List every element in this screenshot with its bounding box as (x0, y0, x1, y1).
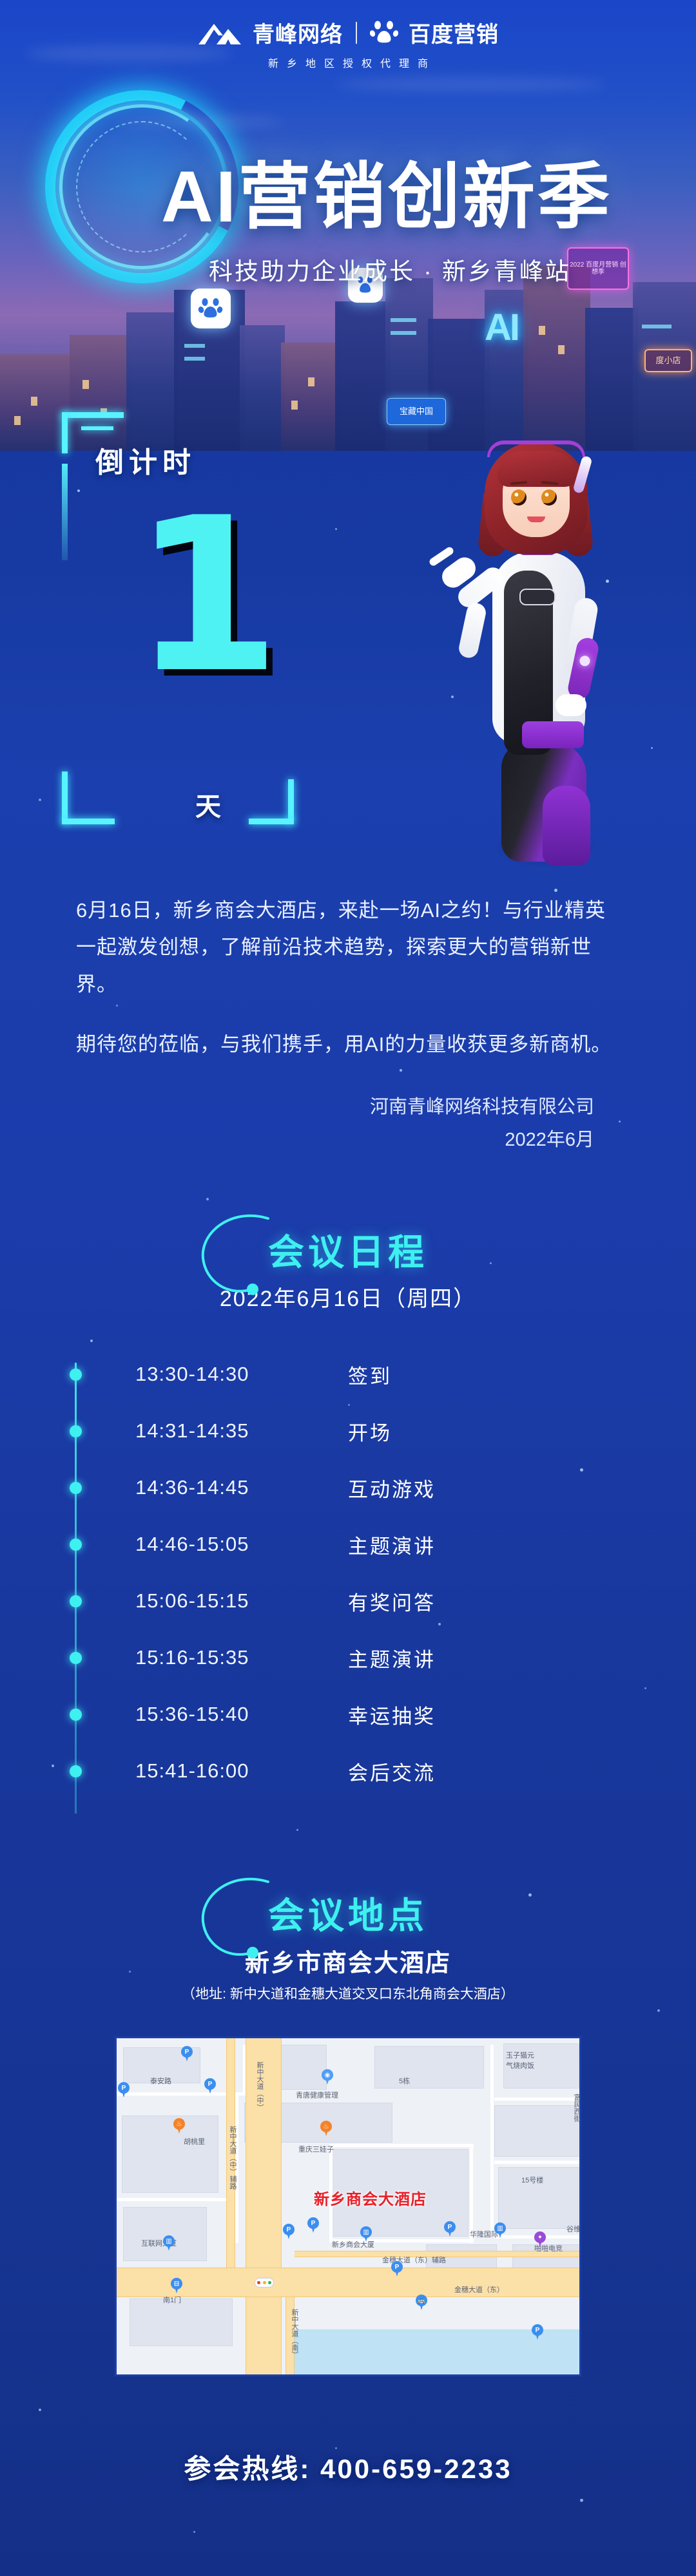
schedule-time: 15:16-15:35 (135, 1646, 249, 1669)
schedule-name: 主题演讲 (348, 1530, 436, 1559)
schedule-time: 15:06-15:15 (135, 1589, 249, 1613)
timeline-dot-icon (70, 1765, 82, 1777)
brand-qingfeng-label: 青峰网络 (253, 17, 343, 48)
page-header: 青峰网络 百度营销 新乡地区授权代理商 (0, 17, 696, 70)
map-pin-health-icon[interactable]: ◉ (322, 2069, 333, 2085)
authorized-agent-label: 新乡地区授权代理商 (0, 55, 696, 70)
timeline-dot-icon (70, 1595, 82, 1607)
schedule-row: 14:31-14:35 开场 (64, 1403, 516, 1459)
map-pin-parking-icon[interactable]: P (118, 2082, 130, 2098)
signature-company: 河南青峰网络科技有限公司 (76, 1091, 594, 1124)
baidu-paw-logo-icon (370, 20, 398, 46)
timeline-dot-icon (70, 1539, 82, 1551)
schedule-time: 14:36-14:45 (135, 1476, 249, 1499)
page-subtitle: 科技助力企业成长 · 新乡青峰站 (0, 252, 696, 287)
map-label: 泰安路 (150, 2076, 171, 2086)
billboard-treasure-china: 宝藏中国 (387, 398, 446, 425)
map-pin-parking-icon[interactable]: P (444, 2221, 456, 2237)
schedule-list: 13:30-14:30 签到 14:31-14:35 开场 14:36-14:4… (64, 1346, 516, 1799)
schedule-time: 15:41-16:00 (135, 1759, 249, 1783)
map-label: 新中大道（南） (289, 2309, 300, 2358)
page-footer: 参会热线: 400-659-2233 (0, 2447, 696, 2486)
signature-date: 2022年6月 (76, 1124, 594, 1157)
map-label: 富民西街 (572, 2094, 581, 2122)
schedule-name: 幸运抽奖 (348, 1700, 436, 1729)
map-traffic-signal-icon (255, 2278, 274, 2287)
schedule-title: 会议日程 (268, 1224, 428, 1276)
venue-name: 新乡市商会大酒店 (0, 1943, 696, 1978)
map-label: 新中大道（中） (255, 2061, 265, 2111)
countdown-panel: 倒计时 1 (62, 412, 294, 824)
map-venue-highlight: 新乡商会大酒店 (314, 2186, 427, 2209)
venue-heading-block: 会议地点 新乡市商会大酒店 （地址: 新中大道和金穗大道交叉口东北角商会大酒店） (0, 1887, 696, 2003)
map-label: 5栋 (399, 2076, 410, 2086)
ai-avatar-mascot (425, 425, 638, 863)
schedule-row: 13:30-14:30 签到 (64, 1346, 516, 1403)
schedule-name: 签到 (348, 1360, 392, 1389)
qingfeng-mountain-logo-icon (197, 20, 242, 46)
schedule-row: 14:46-15:05 主题演讲 (64, 1516, 516, 1573)
venue-map[interactable]: 泰安路 胡桃里 互联网大厦 青唐健康管理 重庆三娃子 新乡商会大厦 华隆国际 啪… (115, 2036, 581, 2376)
baidu-paw-billboard-icon (191, 289, 231, 328)
map-label: 气烧肉饭 (506, 2060, 534, 2070)
cloud-wisp (335, 77, 606, 91)
map-pin-restaurant-icon[interactable]: ♨ (173, 2118, 185, 2134)
map-label: 玉子猫元 (506, 2050, 534, 2060)
venue-title: 会议地点 (268, 1887, 428, 1939)
map-pin-bus-icon[interactable]: 🚌 (416, 2295, 427, 2310)
schedule-time: 14:46-15:05 (135, 1533, 249, 1556)
map-label: 金穗大道（东） (454, 2284, 504, 2295)
map-label: 15号楼 (521, 2175, 543, 2185)
schedule-row: 15:36-15:40 幸运抽奖 (64, 1686, 516, 1743)
neon-ai-sign: AI (485, 306, 518, 349)
map-label: 谷维 (566, 2224, 581, 2234)
signature-block: 河南青峰网络科技有限公司 2022年6月 (76, 1091, 624, 1157)
map-pin-esports-icon[interactable]: ✦ (534, 2231, 546, 2247)
invitation-paragraph-2: 期待您的莅临，与我们携手，用AI的力量收获更多新商机。 (76, 1026, 624, 1063)
title-block: AI营销创新季 科技助力企业成长 · 新乡青峰站 (0, 138, 696, 287)
schedule-name: 互动游戏 (348, 1473, 436, 1502)
map-pin-parking-icon[interactable]: P (283, 2224, 295, 2239)
map-pin-parking-icon[interactable]: P (181, 2046, 193, 2061)
venue-address: （地址: 新中大道和金穗大道交叉口东北角商会大酒店） (0, 1984, 696, 2003)
schedule-row: 15:16-15:35 主题演讲 (64, 1629, 516, 1686)
map-pin-restaurant-icon[interactable]: ♨ (320, 2121, 332, 2136)
schedule-heading-block: 会议日程 2022年6月16日（周四） (0, 1224, 696, 1312)
schedule-name: 主题演讲 (348, 1643, 436, 1672)
map-label: 青唐健康管理 (296, 2090, 338, 2100)
map-label: 新中大道（中）辅路 (227, 2126, 238, 2190)
map-label: 南1门 (163, 2295, 181, 2305)
map-pin-parking-icon[interactable]: P (204, 2078, 216, 2094)
schedule-title-text: 会议日程 (268, 1232, 428, 1273)
venue-title-text: 会议地点 (268, 1895, 428, 1936)
schedule-row: 15:41-16:00 会后交流 (64, 1743, 516, 1799)
schedule-name: 会后交流 (348, 1757, 436, 1786)
schedule-name: 开场 (348, 1417, 392, 1446)
map-pin-parking-icon[interactable]: P (307, 2217, 319, 2233)
timeline-dot-icon (70, 1425, 82, 1437)
countdown-number: 1 (133, 489, 281, 702)
schedule-time: 13:30-14:30 (135, 1363, 249, 1386)
schedule-date: 2022年6月16日（周四） (0, 1281, 696, 1312)
billboard-du-shop: 度小店 (644, 349, 692, 372)
logo-row: 青峰网络 百度营销 (0, 17, 696, 48)
page-title: AI营销创新季 (0, 138, 696, 243)
countdown-unit-label: 天 (195, 786, 221, 823)
map-pin-gate-icon[interactable]: ⊟ (171, 2278, 182, 2293)
schedule-row: 14:36-14:45 互动游戏 (64, 1459, 516, 1516)
timeline-dot-icon (70, 1709, 82, 1721)
schedule-name: 有奖问答 (348, 1587, 436, 1616)
invitation-body: 6月16日，新乡商会大酒店，来赴一场AI之约！与行业精英一起激发创想，了解前沿技… (76, 892, 624, 1157)
map-pin-building-icon[interactable]: ▥ (163, 2235, 175, 2251)
timeline-dot-icon (70, 1652, 82, 1664)
timeline-dot-icon (70, 1482, 82, 1494)
map-pin-building-icon[interactable]: ▥ (494, 2222, 506, 2238)
map-pin-parking-icon[interactable]: P (532, 2324, 543, 2340)
map-pin-parking-icon[interactable]: P (391, 2261, 403, 2277)
schedule-time: 14:31-14:35 (135, 1419, 249, 1443)
logo-divider (356, 22, 357, 44)
schedule-row: 15:06-15:15 有奖问答 (64, 1573, 516, 1629)
schedule-time: 15:36-15:40 (135, 1703, 249, 1726)
invitation-paragraph-1: 6月16日，新乡商会大酒店，来赴一场AI之约！与行业精英一起激发创想，了解前沿技… (76, 892, 624, 1003)
map-label: 胡桃里 (184, 2136, 205, 2146)
map-label: 重庆三娃子 (298, 2144, 334, 2154)
hotline-label: 参会热线: 400-659-2233 (0, 2447, 696, 2486)
brand-baidu-marketing-label: 百度营销 (409, 17, 499, 48)
timeline-dot-icon (70, 1368, 82, 1381)
map-pin-building-icon[interactable]: ▥ (360, 2226, 372, 2242)
